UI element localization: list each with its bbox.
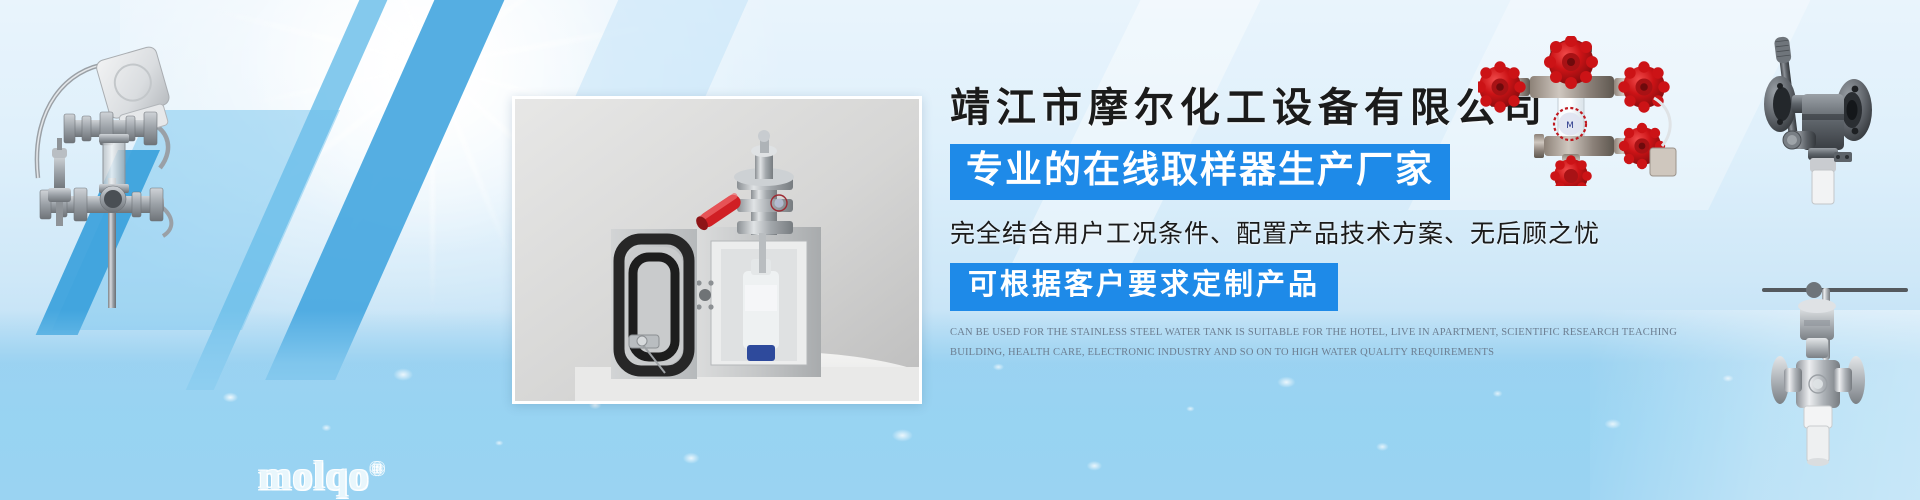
lever-handle-flanged-sampling-valve-image <box>1750 28 1910 213</box>
main-headline-badge: 专业的在线取样器生产厂家 <box>950 144 1450 200</box>
svg-text:M: M <box>1566 121 1574 131</box>
red-handwheel-cross-valve-manifold-image: M <box>1478 36 1698 186</box>
watermark-logo: molqo® <box>258 452 385 499</box>
pole-mounted-sampling-station-image <box>8 28 198 308</box>
center-product-photo <box>512 96 922 404</box>
promotional-banner: molqo® <box>0 0 1920 500</box>
watermark-logo-text: molqo <box>258 453 370 498</box>
english-caption: CAN BE USED FOR THE STAINLESS STEEL WATE… <box>950 323 1692 364</box>
registered-trademark-icon: ® <box>370 459 385 480</box>
vertical-lever-sampling-valve-image <box>1760 272 1910 482</box>
sub-headline: 完全结合用户工况条件、配置产品技术方案、无后顾之忧 <box>950 214 1740 250</box>
secondary-headline-badge: 可根据客户要求定制产品 <box>950 263 1338 311</box>
